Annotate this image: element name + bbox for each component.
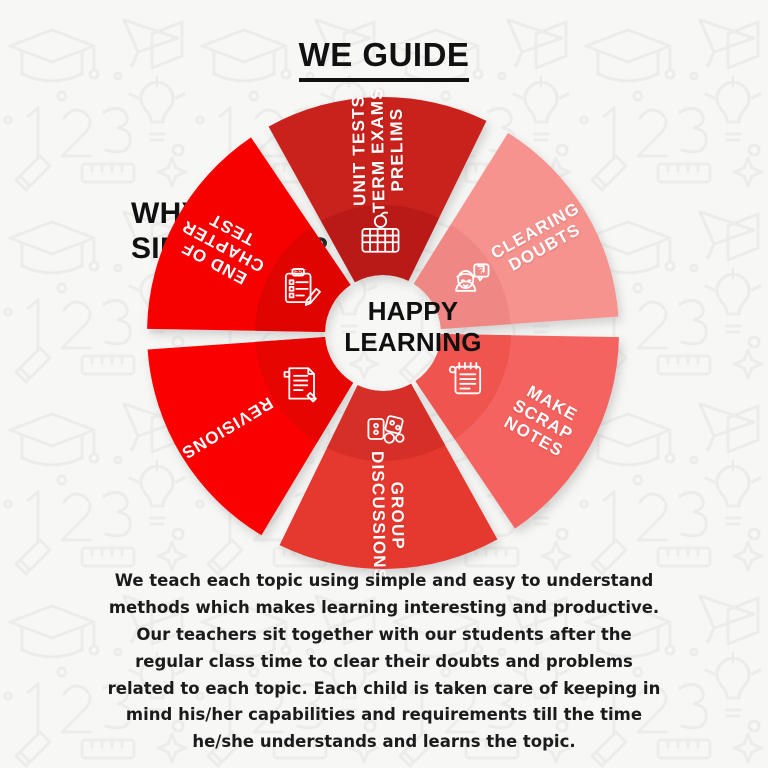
center-happy-learning-text: HAPPY LEARNING — [323, 296, 503, 358]
page-title: WE GUIDE — [0, 36, 768, 82]
svg-text:?: ? — [479, 266, 484, 276]
description-paragraph: We teach each topic using simple and eas… — [104, 568, 664, 756]
page-title-text: WE GUIDE — [299, 36, 470, 82]
svg-text:TEST: TEST — [290, 269, 306, 276]
